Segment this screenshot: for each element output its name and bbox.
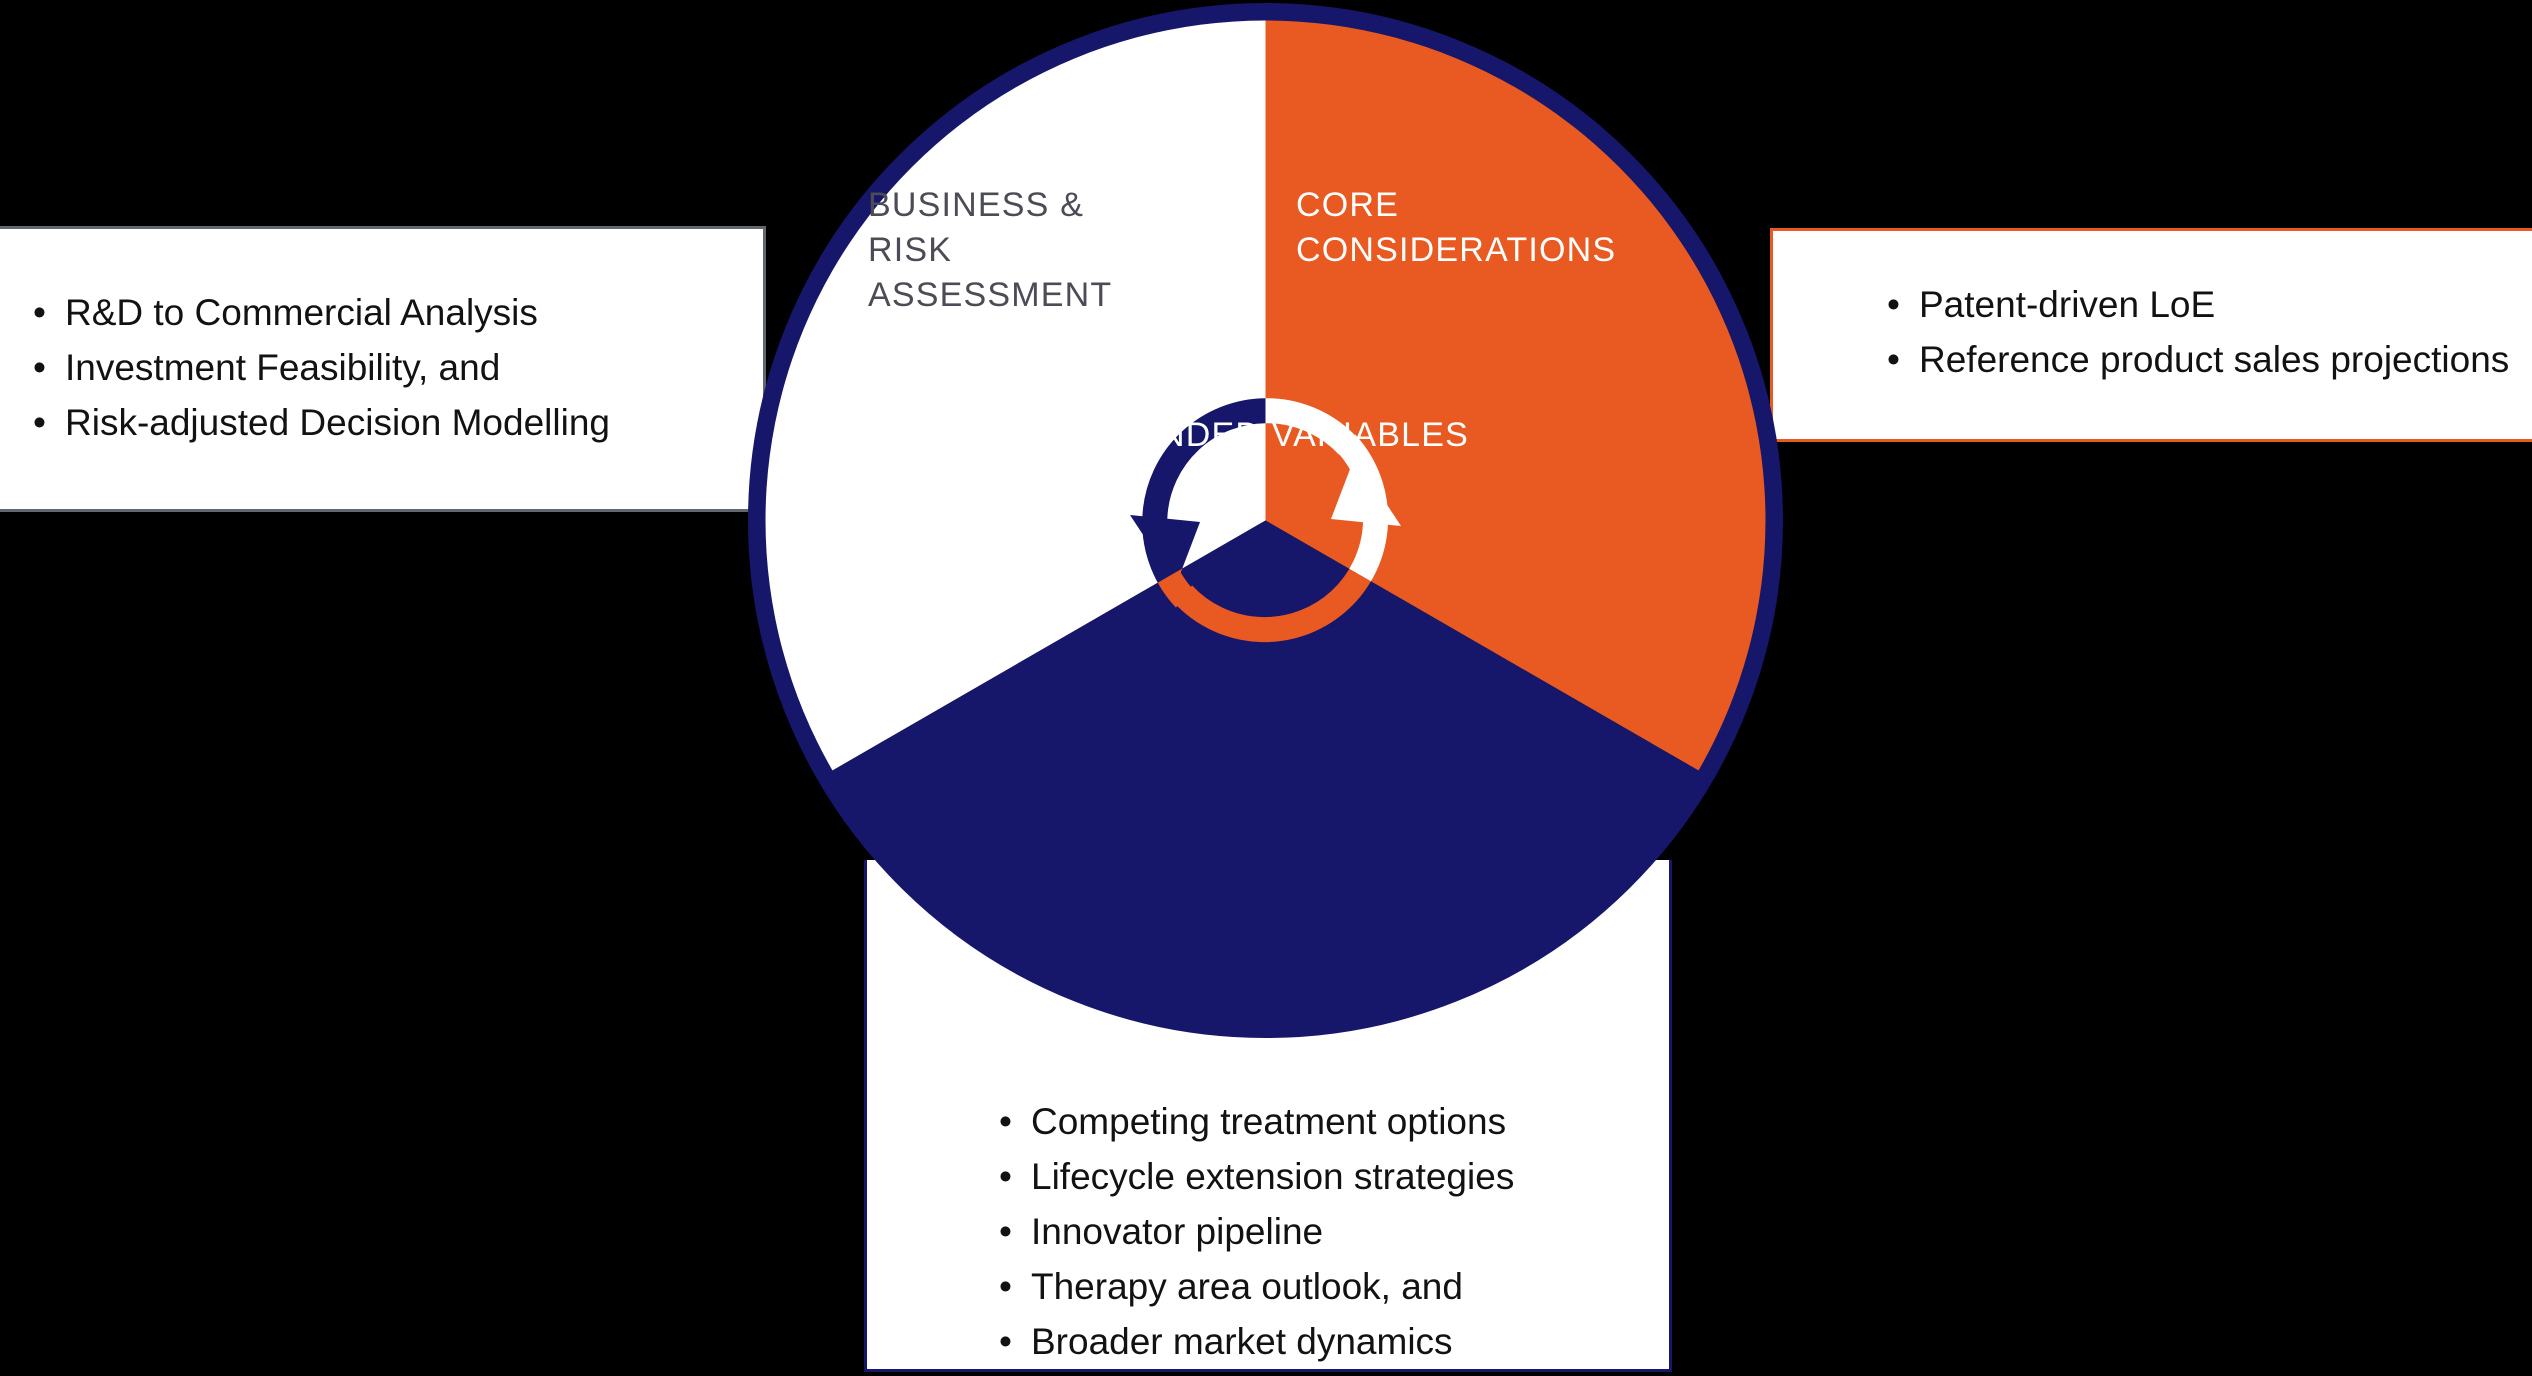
segment-label-core-considerations: CORE CONSIDERATIONS xyxy=(1296,183,1596,273)
segment-label-line1: BUSINESS & RISK xyxy=(868,183,1168,273)
bullet-glyph: • xyxy=(999,1094,1012,1149)
list-item: •Innovator pipeline xyxy=(995,1204,1514,1259)
bullet-glyph: • xyxy=(999,1204,1012,1259)
list-item: •Lifecycle extension strategies xyxy=(995,1149,1514,1204)
bullet-glyph: • xyxy=(1887,277,1900,332)
bullet-glyph: • xyxy=(999,1314,1012,1369)
list-item: •Risk-adjusted Decision Modelling xyxy=(29,395,610,450)
list-item: •Competing treatment options xyxy=(995,1094,1514,1149)
list-item: •Therapy area outlook, and xyxy=(995,1259,1514,1314)
list-item: •Investment Feasibility, and xyxy=(29,340,610,395)
segment-label-line2: ASSESSMENT xyxy=(868,273,1168,318)
list-item-label: Patent-driven LoE xyxy=(1919,284,2215,325)
bullet-glyph: • xyxy=(33,395,46,450)
bullet-glyph: • xyxy=(999,1149,1012,1204)
bullet-list-bottom: •Competing treatment options •Lifecycle … xyxy=(995,1094,1514,1369)
list-item-label: Competing treatment options xyxy=(1031,1101,1506,1142)
list-item-label: Risk-adjusted Decision Modelling xyxy=(65,402,610,443)
list-item: •Patent-driven LoE xyxy=(1883,277,2509,332)
bullet-glyph: • xyxy=(1887,332,1900,387)
list-item-label: Lifecycle extension strategies xyxy=(1031,1156,1514,1197)
list-item: •Reference product sales projections xyxy=(1883,332,2509,387)
list-item-label: Reference product sales projections xyxy=(1919,339,2509,380)
list-item: •Broader market dynamics xyxy=(995,1314,1514,1369)
segment-label-business-risk-assessment: BUSINESS & RISK ASSESSMENT xyxy=(868,183,1168,318)
diagram-canvas: •R&D to Commercial Analysis •Investment … xyxy=(0,0,2532,1376)
segment-label-line1: CORE xyxy=(1296,183,1596,228)
list-item-label: Investment Feasibility, and xyxy=(65,347,500,388)
panel-core-considerations: •Patent-driven LoE •Reference product sa… xyxy=(1770,228,2532,442)
three-segment-wheel: BUSINESS & RISK ASSESSMENT CORE CONSIDER… xyxy=(748,3,1783,1038)
bullet-list-left: •R&D to Commercial Analysis •Investment … xyxy=(29,285,610,450)
list-item-label: R&D to Commercial Analysis xyxy=(65,292,538,333)
list-item-label: Innovator pipeline xyxy=(1031,1211,1323,1252)
segment-label-line1: EXPANDED VARIABLES xyxy=(958,413,1578,458)
list-item-label: Broader market dynamics xyxy=(1031,1321,1453,1362)
bullet-glyph: • xyxy=(999,1259,1012,1314)
segment-label-expanded-variables: EXPANDED VARIABLES xyxy=(958,413,1578,458)
bullet-glyph: • xyxy=(33,340,46,395)
list-item-label: Therapy area outlook, and xyxy=(1031,1266,1463,1307)
segment-label-line2: CONSIDERATIONS xyxy=(1296,228,1596,273)
bullet-list-right: •Patent-driven LoE •Reference product sa… xyxy=(1883,277,2509,387)
panel-business-risk-assessment: •R&D to Commercial Analysis •Investment … xyxy=(0,226,766,512)
bullet-glyph: • xyxy=(33,285,46,340)
list-item: •R&D to Commercial Analysis xyxy=(29,285,610,340)
